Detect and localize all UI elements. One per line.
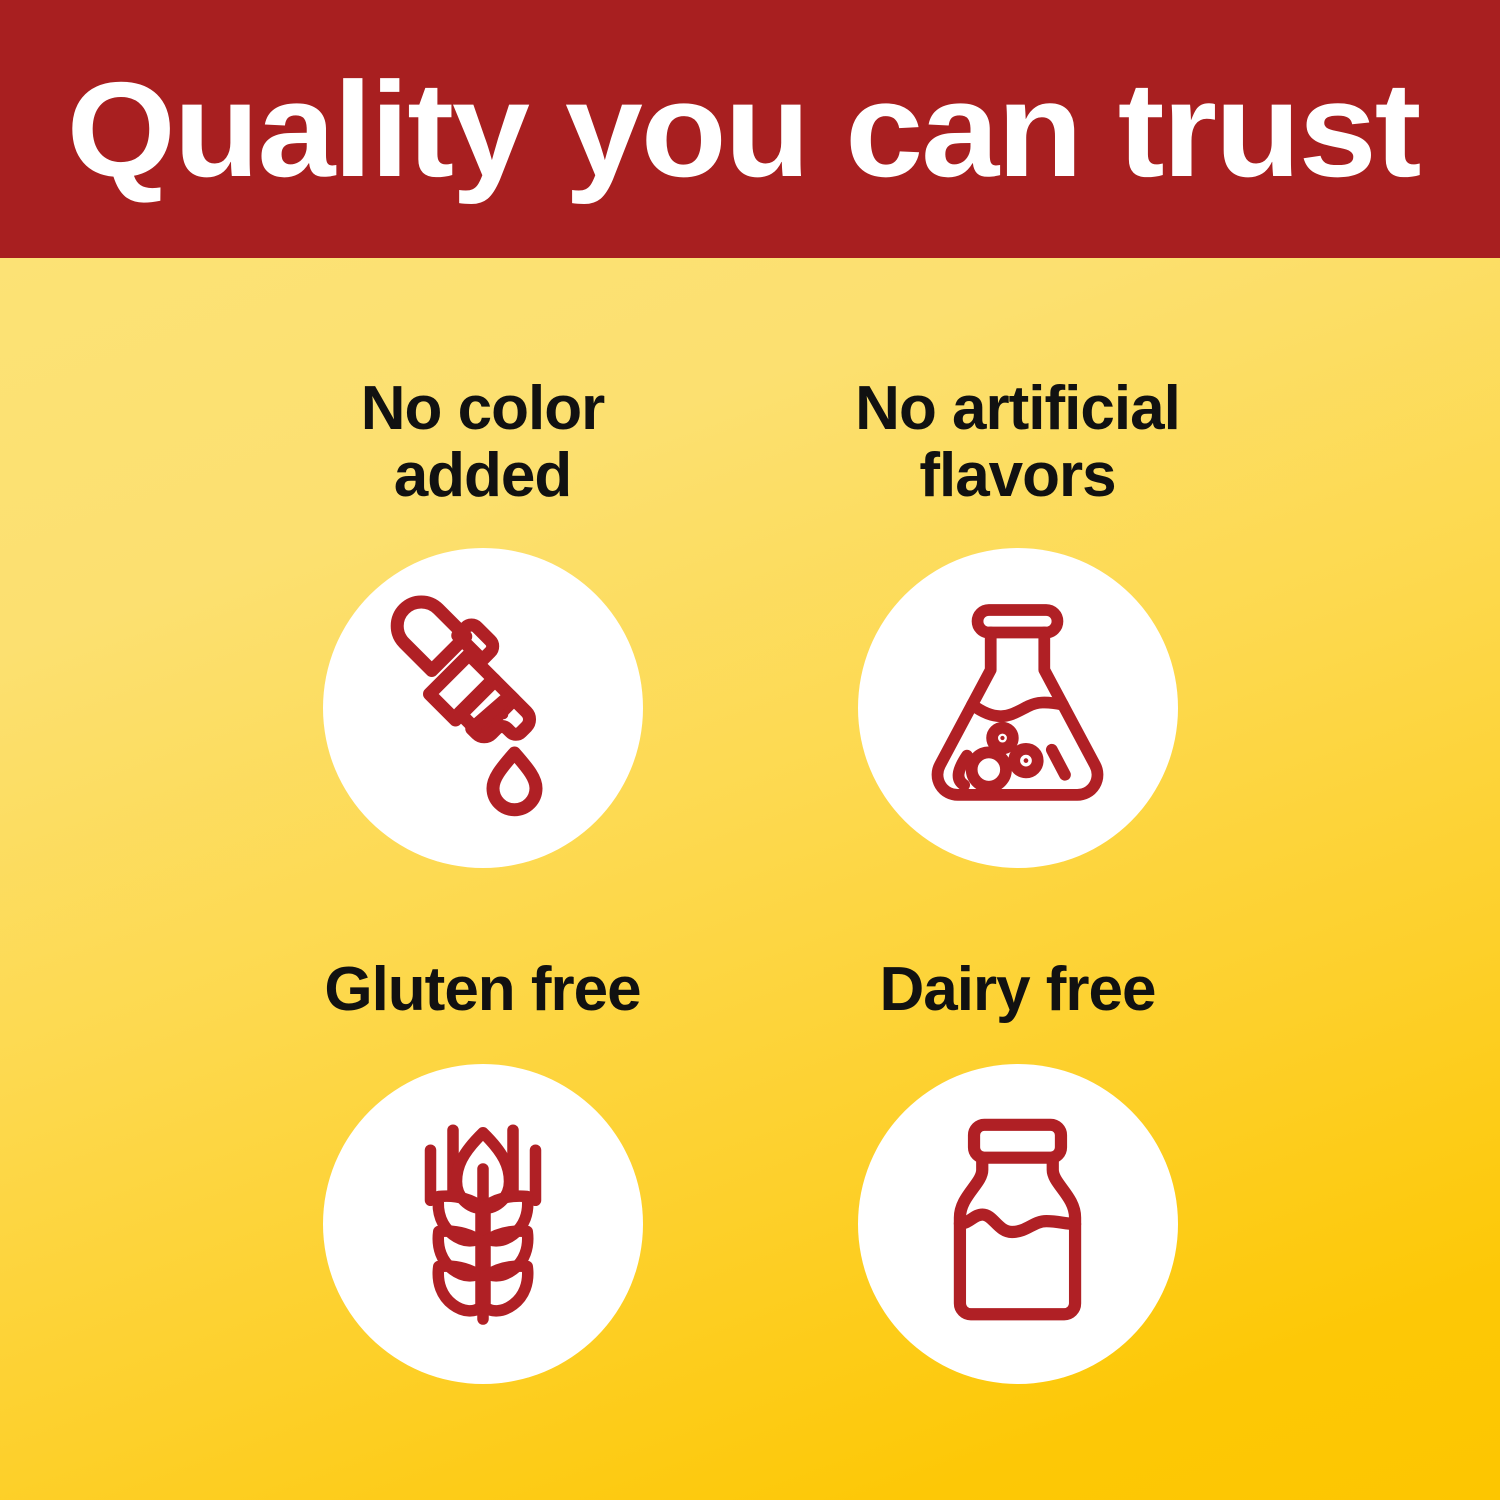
badge-icon-circle: [323, 548, 643, 868]
badge-label: Dairy free: [879, 957, 1155, 1024]
flask-icon: [900, 590, 1135, 825]
badge-dairy-free: Dairy free: [750, 869, 1285, 1480]
badge-label: No artificial flavors: [855, 376, 1180, 510]
header-banner: Quality you can trust: [0, 0, 1500, 258]
wheat-icon: [358, 1099, 608, 1349]
page-title: Quality you can trust: [0, 62, 1419, 197]
badge-icon-circle: [858, 548, 1178, 868]
badge-no-color-added: No color added: [215, 258, 750, 869]
milk-bottle-icon: [900, 1106, 1135, 1341]
badge-grid: No color added: [0, 258, 1500, 1500]
dropper-icon: [358, 583, 608, 833]
badge-no-artificial-flavors: No artificial flavors: [750, 258, 1285, 869]
badge-label: Gluten free: [324, 957, 640, 1024]
badge-gluten-free: Gluten free: [215, 869, 750, 1480]
badge-icon-circle: [858, 1064, 1178, 1384]
badge-icon-circle: [323, 1064, 643, 1384]
badge-label: No color added: [361, 376, 604, 510]
quality-claims-infographic: Quality you can trust No color added: [0, 0, 1500, 1500]
